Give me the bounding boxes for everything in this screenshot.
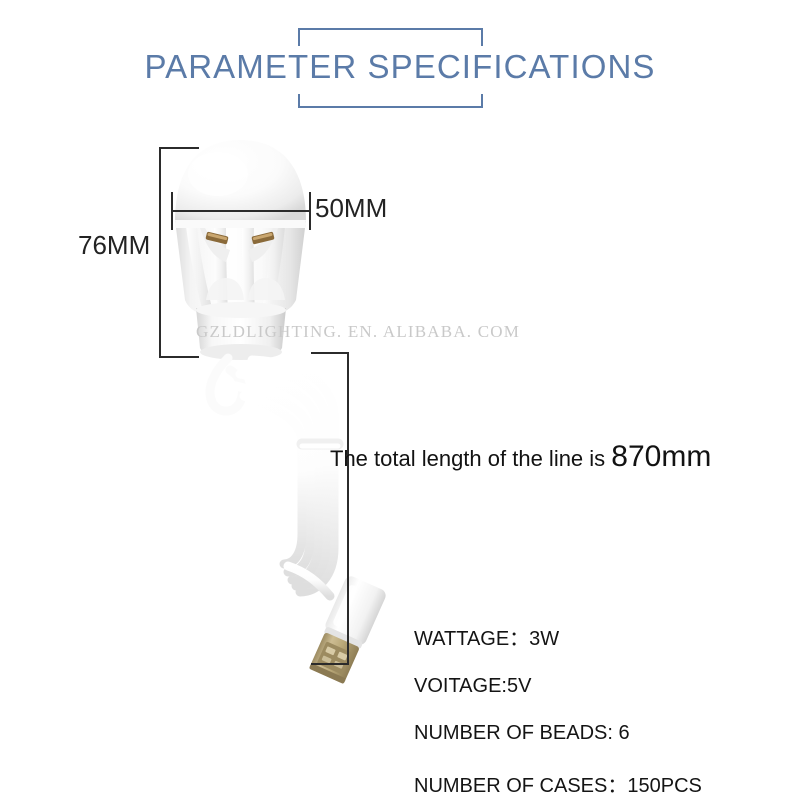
cable-length-dimension-cap-bottom	[311, 663, 349, 665]
height-dimension-line	[159, 147, 161, 358]
specification-list: WATTAGE：3W VOITAGE:5V NUMBER OF BEADS: 6…	[414, 622, 774, 800]
cable-length-dimension-cap-top	[311, 352, 349, 354]
spec-row-wattage: WATTAGE：3W	[414, 622, 774, 651]
cable-length-label: The total length of the line is 870mm	[330, 440, 711, 474]
diameter-dimension-label: 50MM	[315, 193, 387, 224]
spec-row-voltage: VOITAGE:5V	[414, 675, 774, 698]
diameter-dimension-cap-left	[171, 192, 173, 230]
title-bracket-top	[298, 28, 483, 46]
cable-length-value: 870mm	[611, 440, 711, 473]
title-bracket-bottom	[298, 94, 483, 108]
watermark-text: GZLDLIGHTING. EN. ALIBABA. COM	[196, 322, 520, 342]
spec-row-number-of-beads: NUMBER OF BEADS: 6	[414, 722, 774, 745]
page-title: PARAMETER SPECIFICATIONS	[0, 48, 800, 86]
product-spec-image: PARAMETER SPECIFICATIONS 76MM 50MM GZLDL…	[0, 0, 800, 800]
diameter-dimension-cap-right	[309, 192, 311, 230]
spec-row-number-of-cases: NUMBER OF CASES：150PCS	[414, 769, 774, 798]
power-cable	[210, 358, 338, 596]
height-dimension-cap-top	[159, 147, 199, 149]
cable-length-lead-text: The total length of the line is	[330, 446, 611, 471]
diameter-dimension-line	[171, 210, 311, 212]
height-dimension-cap-bottom	[159, 356, 199, 358]
cable-length-dimension-line	[347, 352, 349, 665]
height-dimension-label: 76MM	[78, 230, 150, 261]
